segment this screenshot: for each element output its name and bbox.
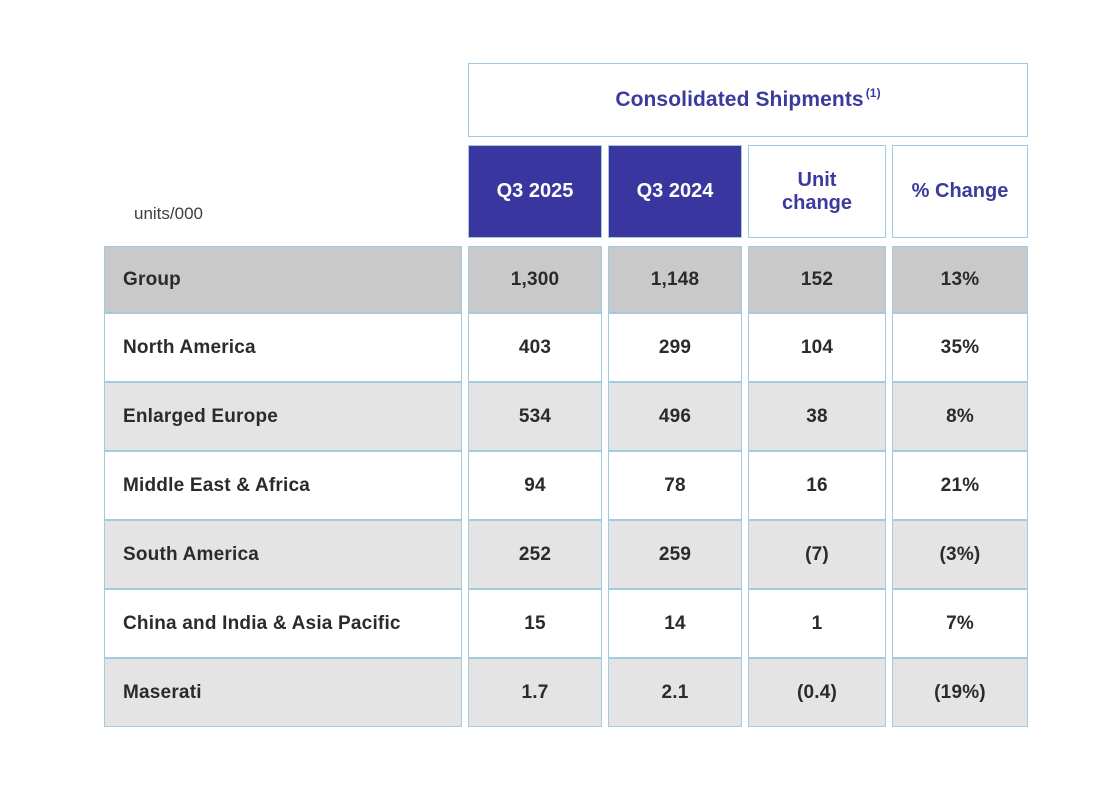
cell-q3_2025: 252 (468, 520, 602, 589)
header-body-gap (104, 238, 1028, 246)
cell-pct_change: 13% (892, 246, 1028, 313)
cell-unit_change: 104 (748, 313, 886, 382)
row-label: North America (104, 313, 462, 382)
cell-unit_change: 16 (748, 451, 886, 520)
cell-pct_change: 7% (892, 589, 1028, 658)
cell-q3_2025: 1.7 (468, 658, 602, 727)
column-header-unit-change-line1: Unit (782, 169, 852, 192)
cell-q3_2024: 259 (608, 520, 742, 589)
cell-pct_change: 35% (892, 313, 1028, 382)
cell-q3_2025: 403 (468, 313, 602, 382)
units-caption: units/000 (134, 204, 203, 224)
row-label: Maserati (104, 658, 462, 727)
cell-pct_change: (3%) (892, 520, 1028, 589)
column-header-q3-2024[interactable]: Q3 2024 (608, 145, 742, 238)
cell-pct_change: (19%) (892, 658, 1028, 727)
cell-unit_change: 152 (748, 246, 886, 313)
table-banner-title: Consolidated Shipments(1) (468, 63, 1028, 137)
cell-q3_2024: 2.1 (608, 658, 742, 727)
units-caption-area: units/000 (104, 63, 462, 238)
column-header-q3-2025[interactable]: Q3 2025 (468, 145, 602, 238)
cell-unit_change: 38 (748, 382, 886, 451)
column-header-unit-change-line2: change (782, 192, 852, 215)
cell-q3_2024: 1,148 (608, 246, 742, 313)
cell-q3_2024: 14 (608, 589, 742, 658)
cell-unit_change: 1 (748, 589, 886, 658)
cell-q3_2025: 534 (468, 382, 602, 451)
cell-q3_2025: 15 (468, 589, 602, 658)
cell-unit_change: (7) (748, 520, 886, 589)
cell-pct_change: 8% (892, 382, 1028, 451)
column-header-unit-change[interactable]: Unit change (748, 145, 886, 238)
cell-q3_2025: 1,300 (468, 246, 602, 313)
banner-footnote-marker: (1) (866, 86, 881, 100)
row-label: Enlarged Europe (104, 382, 462, 451)
cell-q3_2024: 496 (608, 382, 742, 451)
column-header-pct-change[interactable]: % Change (892, 145, 1028, 238)
cell-unit_change: (0.4) (748, 658, 886, 727)
shipments-table: units/000 Consolidated Shipments(1) Q3 2… (104, 63, 1044, 738)
row-label: Group (104, 246, 462, 313)
table-grid: units/000 Consolidated Shipments(1) Q3 2… (104, 63, 1044, 727)
row-label: South America (104, 520, 462, 589)
cell-pct_change: 21% (892, 451, 1028, 520)
cell-q3_2024: 78 (608, 451, 742, 520)
banner-title-text: Consolidated Shipments (615, 88, 863, 112)
row-label: China and India & Asia Pacific (104, 589, 462, 658)
row-label: Middle East & Africa (104, 451, 462, 520)
cell-q3_2024: 299 (608, 313, 742, 382)
cell-q3_2025: 94 (468, 451, 602, 520)
